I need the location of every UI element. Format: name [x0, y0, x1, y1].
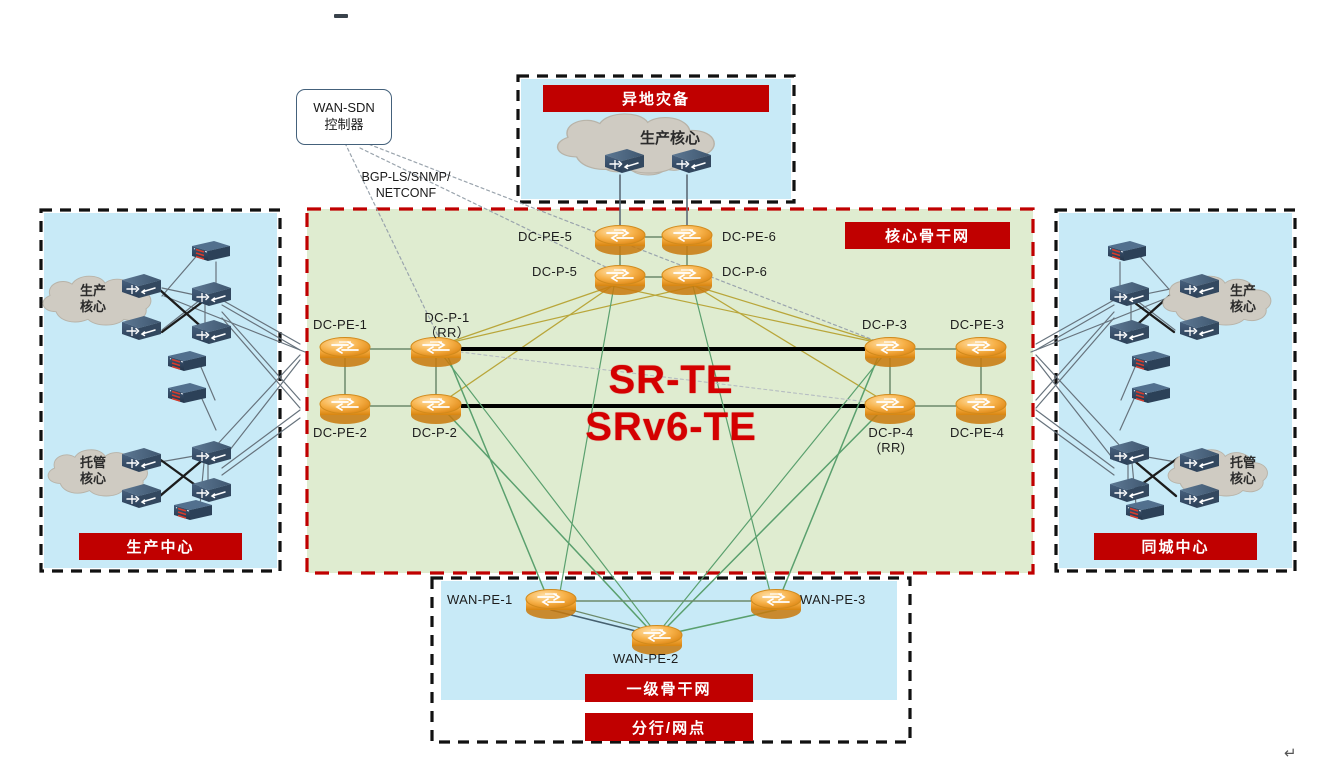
label-dc-pe-5: DC-PE-5 [518, 230, 572, 245]
wan-sdn-controller-box[interactable]: WAN-SDN 控制器 [296, 89, 392, 145]
router-dc-p-1[interactable] [411, 338, 461, 368]
cloud-label-prod-right: 生产 核心 [1218, 283, 1268, 314]
cloud-prod-right-line1: 生产 [1218, 283, 1268, 299]
router-dc-pe-4[interactable] [956, 395, 1006, 425]
cloud-host-right-line2: 核心 [1218, 471, 1268, 487]
sr-te-label: SR-TE [576, 358, 766, 403]
router-dc-pe-1[interactable] [320, 338, 370, 368]
label-dc-p-1-rr: （RR） [408, 326, 486, 341]
label-dc-p-5: DC-P-5 [532, 265, 577, 280]
router-dc-p-6[interactable] [662, 266, 712, 296]
router-dc-p-5[interactable] [595, 266, 645, 296]
router-wan-pe-3[interactable] [751, 590, 801, 620]
protocol-line-1: BGP-LS/SNMP/ [340, 170, 472, 186]
router-dc-p-3[interactable] [865, 338, 915, 368]
router-wan-pe-1[interactable] [526, 590, 576, 620]
label-wan-pe-3: WAN-PE-3 [800, 593, 865, 608]
label-dc-pe-1: DC-PE-1 [313, 318, 367, 333]
label-dc-pe-2: DC-PE-2 [313, 426, 367, 441]
zone-production-center-fill [44, 213, 277, 568]
cloud-host-left-line1: 托管 [68, 455, 118, 471]
cloud-label-host-right: 托管 核心 [1218, 455, 1268, 486]
zone-banner-production-center: 生产中心 [79, 533, 242, 560]
label-dc-pe-3: DC-PE-3 [950, 318, 1004, 333]
label-dc-p-4-name: DC-P-4 [858, 426, 924, 441]
controller-title: WAN-SDN [313, 100, 375, 117]
cloud-host-left-line2: 核心 [68, 471, 118, 487]
cloud-label-prod-left: 生产 核心 [68, 283, 118, 314]
srv6-te-label: SRv6-TE [556, 405, 786, 450]
zone-banner-remote-dr: 异地灾备 [543, 85, 769, 112]
router-dc-p-2[interactable] [411, 395, 461, 425]
label-dc-p-4-rr: (RR) [858, 441, 924, 456]
diagram-canvas: WAN-SDN 控制器 BGP-LS/SNMP/ NETCONF 异地灾备 核心… [0, 0, 1338, 783]
cloud-prod-left-line2: 核心 [68, 299, 118, 315]
router-dc-pe-3[interactable] [956, 338, 1006, 368]
cloud-prod-right-line2: 核心 [1218, 299, 1268, 315]
pilcrow-mark: ↵ [1284, 744, 1297, 762]
router-dc-p-4[interactable] [865, 395, 915, 425]
router-dc-pe-6[interactable] [662, 226, 712, 256]
cloud-prod-left-line1: 生产 [68, 283, 118, 299]
label-dc-pe-4: DC-PE-4 [950, 426, 1004, 441]
cloud-label-host-left: 托管 核心 [68, 455, 118, 486]
label-wan-pe-2: WAN-PE-2 [613, 652, 678, 667]
label-dc-p-2: DC-P-2 [412, 426, 457, 441]
label-dc-pe-6: DC-PE-6 [722, 230, 776, 245]
controller-subtitle: 控制器 [324, 117, 363, 134]
protocol-line-2: NETCONF [340, 186, 472, 202]
label-dc-p-6: DC-P-6 [722, 265, 767, 280]
protocol-label: BGP-LS/SNMP/ NETCONF [340, 170, 472, 201]
label-wan-pe-1: WAN-PE-1 [447, 593, 512, 608]
zone-same-city-center-fill [1059, 213, 1292, 568]
label-dc-p-4: DC-P-4 (RR) [858, 426, 924, 456]
zone-banner-branch-outlet: 分行/网点 [585, 713, 753, 741]
router-dc-pe-2[interactable] [320, 395, 370, 425]
zone-banner-primary-backbone: 一级骨干网 [585, 674, 753, 702]
router-dc-pe-5[interactable] [595, 226, 645, 256]
label-dc-p-3: DC-P-3 [862, 318, 907, 333]
cloud-host-right-line1: 托管 [1218, 455, 1268, 471]
zone-banner-core-backbone: 核心骨干网 [845, 222, 1010, 249]
label-dc-p-1-name: DC-P-1 [408, 311, 486, 326]
zone-banner-same-city-center: 同城中心 [1094, 533, 1257, 560]
cloud-label-prod-top: 生产核心 [620, 130, 720, 148]
stray-mark [334, 14, 348, 18]
label-dc-p-1: DC-P-1 （RR） [408, 311, 486, 341]
